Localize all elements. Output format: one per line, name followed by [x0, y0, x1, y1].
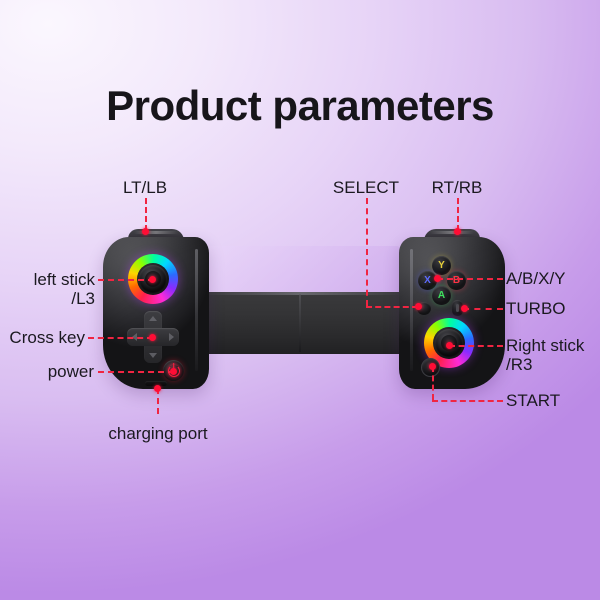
leader-start-horizontal [432, 400, 503, 402]
callout-label-cross-key: Cross key [5, 328, 85, 347]
leader-lt-lb [145, 198, 147, 231]
leader-power [98, 371, 174, 373]
leader-dot-turbo [461, 305, 468, 312]
callout-label-right-stick: Right stick /R3 [506, 336, 600, 374]
right-shoulder-highlight [430, 231, 474, 234]
bridge-seam [299, 294, 301, 352]
face-button-a[interactable]: A [432, 286, 451, 305]
telescopic-bridge [196, 292, 408, 354]
leader-dot-abxy [434, 275, 441, 282]
dpad-up-icon [149, 316, 157, 321]
callout-label-turbo: TURBO [506, 299, 600, 318]
leader-start-vertical [432, 366, 434, 400]
leader-dot-power [170, 368, 177, 375]
face-button-y[interactable]: Y [432, 256, 451, 275]
leader-dot-cross-key [149, 334, 156, 341]
leader-rt-rb [457, 198, 459, 231]
product-parameters-image: Product parameters [0, 0, 600, 600]
leader-dot-select [415, 303, 422, 310]
leader-select-vertical [366, 198, 368, 306]
leader-turbo [463, 308, 503, 310]
leader-dot-rt-rb [454, 228, 461, 235]
dpad-right-icon [169, 333, 174, 341]
left-shoulder-highlight [134, 231, 178, 234]
leader-cross-key [88, 337, 153, 339]
leader-dot-left-stick [149, 276, 156, 283]
callout-label-abxy: A/B/X/Y [506, 269, 600, 288]
right-grip-edge [410, 249, 413, 371]
leader-right-stick [449, 345, 503, 347]
callout-label-select: SELECT [326, 178, 406, 197]
leader-dot-charging-port [154, 385, 161, 392]
callout-label-left-stick: left stick /L3 [10, 270, 95, 308]
callout-label-rt-rb: RT/RB [417, 178, 497, 197]
leader-dot-lt-lb [142, 228, 149, 235]
dpad-down-icon [149, 353, 157, 358]
callout-label-lt-lb: LT/LB [105, 178, 185, 197]
leader-abxy [437, 278, 503, 280]
bridge-highlight [200, 292, 404, 295]
face-button-b[interactable]: B [447, 271, 466, 290]
callout-label-power: power [26, 362, 94, 381]
phone-slot-gap [200, 246, 404, 294]
leader-select-horizontal [366, 306, 418, 308]
callout-label-charging-port: charging port [88, 424, 228, 443]
callout-label-start: START [506, 391, 600, 410]
leader-left-stick [98, 279, 154, 281]
left-grip-edge [195, 249, 198, 371]
leader-dot-right-stick [446, 342, 453, 349]
leader-dot-start [429, 363, 436, 370]
